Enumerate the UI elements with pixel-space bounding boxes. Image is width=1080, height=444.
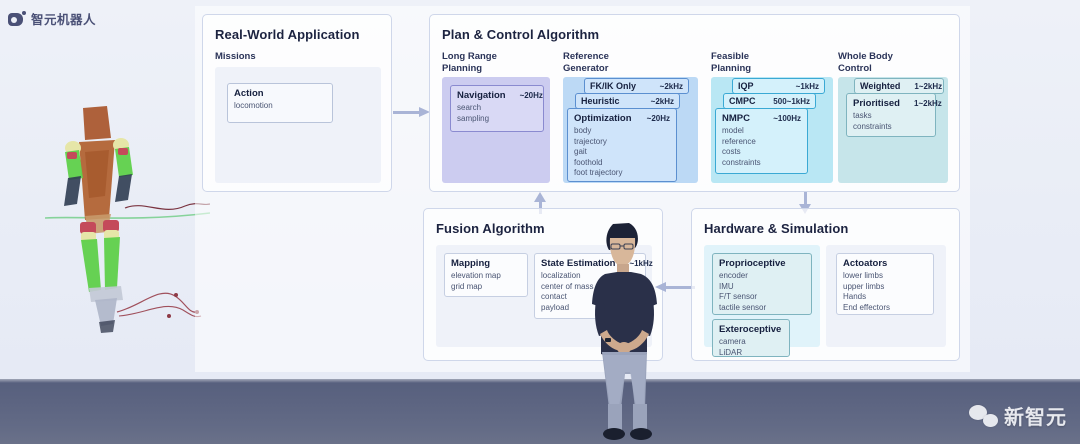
humanoid-robot-visualization [45, 100, 210, 340]
card-navigation[interactable]: Navigation ~20Hz search sampling [450, 85, 544, 132]
card-fk-ik-title: FK/IK Only [590, 80, 636, 92]
card-prioritised[interactable]: Prioritised 1~2kHz tasks constraints [846, 93, 936, 137]
card-action-title: Action [234, 88, 264, 100]
card-nmpc-lines: model reference costs constraints [722, 126, 801, 168]
card-nmpc-title: NMPC [722, 113, 750, 125]
card-fk-ik-only[interactable]: FK/IK Only ~2kHz [584, 78, 689, 94]
card-prioritised-title: Prioritised [853, 98, 900, 110]
card-heuristic-freq: ~2kHz [643, 96, 674, 108]
panel-title-plan-control: Plan & Control Algorithm [442, 27, 599, 42]
stage-floor [0, 379, 1080, 444]
card-actoators[interactable]: Actoators lower limbs upper limbs Hands … [836, 253, 934, 315]
card-weighted-freq: 1~2kHz [906, 81, 942, 93]
floor-edge-highlight [0, 379, 1080, 383]
card-exteroceptive-lines: camera LiDAR [719, 337, 783, 358]
card-heuristic-title: Heuristic [581, 95, 620, 107]
card-weighted[interactable]: Weighted 1~2kHz [854, 78, 944, 94]
card-navigation-title: Navigation [457, 90, 506, 102]
arrow-realworld-to-plan [393, 107, 431, 117]
brand-logo: 智元机器人 [8, 9, 96, 28]
card-heuristic[interactable]: Heuristic ~2kHz [575, 93, 680, 109]
wechat-icon [969, 405, 998, 427]
subtitle-missions: Missions [215, 51, 256, 63]
card-iqp-freq: ~1kHz [788, 81, 819, 93]
card-action[interactable]: Action locomotion [227, 83, 333, 123]
card-navigation-freq: ~20Hz [512, 90, 543, 102]
company-logo-icon [8, 11, 25, 26]
panel-plan-control-algorithm: Plan & Control Algorithm Long Range Plan… [429, 14, 960, 192]
card-cmpc[interactable]: CMPC 500~1kHz [723, 93, 816, 109]
card-exteroceptive-title: Exteroceptive [719, 324, 781, 336]
card-prioritised-freq: 1~2kHz [906, 98, 942, 110]
card-actoators-lines: lower limbs upper limbs Hands End effect… [843, 271, 927, 313]
panel-title-real-world: Real-World Application [215, 27, 359, 42]
card-iqp-title: IQP [738, 80, 754, 92]
watermark-text: 新智元 [1004, 401, 1067, 430]
subtitle-feasible-planning: Feasible Planning [711, 51, 751, 74]
card-proprioceptive[interactable]: Proprioceptive encoder IMU F/T sensor ta… [712, 253, 812, 315]
card-cmpc-freq: 500~1kHz [765, 96, 810, 108]
card-optimization[interactable]: Optimization ~20Hz body trajectory gait … [567, 108, 677, 182]
panel-title-fusion: Fusion Algorithm [436, 221, 545, 236]
card-exteroceptive[interactable]: Exteroceptive camera LiDAR [712, 319, 790, 357]
presenter-person [583, 222, 681, 444]
card-fk-ik-freq: ~2kHz [652, 81, 683, 93]
brand-name: 智元机器人 [31, 9, 96, 28]
card-optimization-lines: body trajectory gait foothold foot traje… [574, 126, 670, 179]
card-weighted-title: Weighted [860, 80, 900, 92]
subtitle-long-range-planning: Long Range Planning [442, 51, 497, 74]
card-prioritised-lines: tasks constraints [853, 111, 929, 132]
panel-hardware-simulation: Hardware & Simulation Proprioceptive enc… [691, 208, 960, 361]
card-cmpc-title: CMPC [729, 95, 756, 107]
panel-title-hardware: Hardware & Simulation [704, 221, 848, 236]
card-actoators-title: Actoators [843, 258, 887, 270]
card-navigation-lines: search sampling [457, 103, 537, 124]
panel-real-world-application: Real-World Application Missions Action l… [202, 14, 392, 192]
card-proprioceptive-lines: encoder IMU F/T sensor tactile sensor [719, 271, 805, 313]
channel-watermark: 新智元 [969, 401, 1067, 430]
card-nmpc[interactable]: NMPC ~100Hz model reference costs constr… [715, 108, 808, 174]
card-mapping-title: Mapping [451, 258, 490, 270]
card-nmpc-freq: ~100Hz [765, 113, 801, 125]
card-mapping-lines: elevation map grid map [451, 271, 521, 292]
card-mapping[interactable]: Mapping elevation map grid map [444, 253, 528, 297]
card-optimization-title: Optimization [574, 113, 632, 125]
card-action-lines: locomotion [234, 101, 326, 112]
card-proprioceptive-title: Proprioceptive [719, 258, 786, 270]
subtitle-whole-body-control: Whole Body Control [838, 51, 893, 74]
card-iqp[interactable]: IQP ~1kHz [732, 78, 825, 94]
card-optimization-freq: ~20Hz [639, 113, 670, 125]
subtitle-reference-generator: Reference Generator [563, 51, 609, 74]
